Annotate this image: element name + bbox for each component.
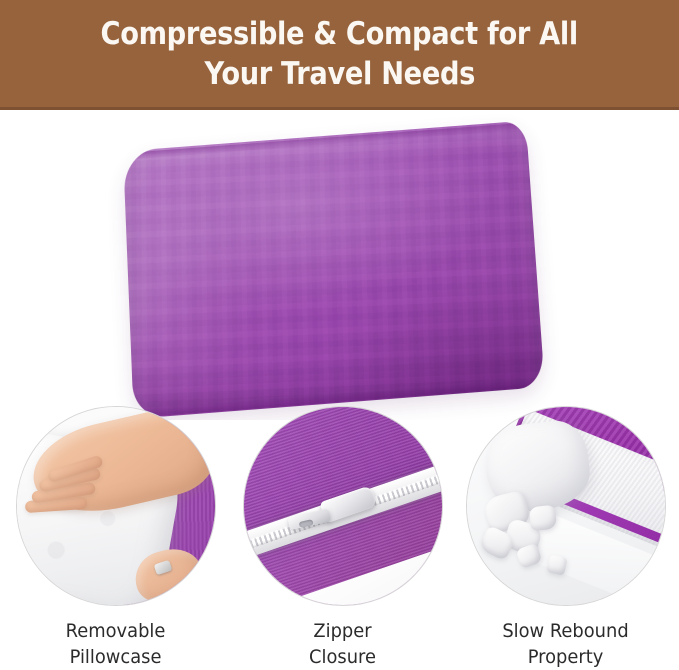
- feature-removable-pillowcase: Removable Pillowcase: [8, 406, 223, 670]
- feature-caption-slow-rebound-property: Slow Rebound Property: [464, 618, 666, 670]
- feature-row: Removable Pillowcase Zipper Closure: [0, 406, 679, 668]
- banner-headline-line-2: Your Travel Needs: [204, 54, 475, 94]
- banner-headline-line-1: Compressible & Compact for All: [101, 14, 578, 54]
- feature-zipper-closure: Zipper Closure: [235, 406, 450, 670]
- feature-caption-zipper-closure: Zipper Closure: [241, 618, 443, 670]
- feature-image-zipper-closure: [243, 406, 443, 606]
- shredded-foam-piece: [529, 505, 557, 531]
- feature-image-removable-pillowcase: [16, 406, 216, 606]
- purple-memory-foam-pillow: [123, 121, 545, 419]
- hero-product-image: [0, 110, 679, 420]
- pillow-top-seam: [123, 123, 526, 160]
- feature-caption-removable-pillowcase: Removable Pillowcase: [14, 618, 216, 670]
- shredded-foam-piece: [546, 554, 567, 575]
- feature-slow-rebound-property: Slow Rebound Property: [458, 406, 673, 670]
- feature-image-slow-rebound-property: [466, 406, 666, 606]
- header-banner: Compressible & Compact for All Your Trav…: [0, 0, 679, 110]
